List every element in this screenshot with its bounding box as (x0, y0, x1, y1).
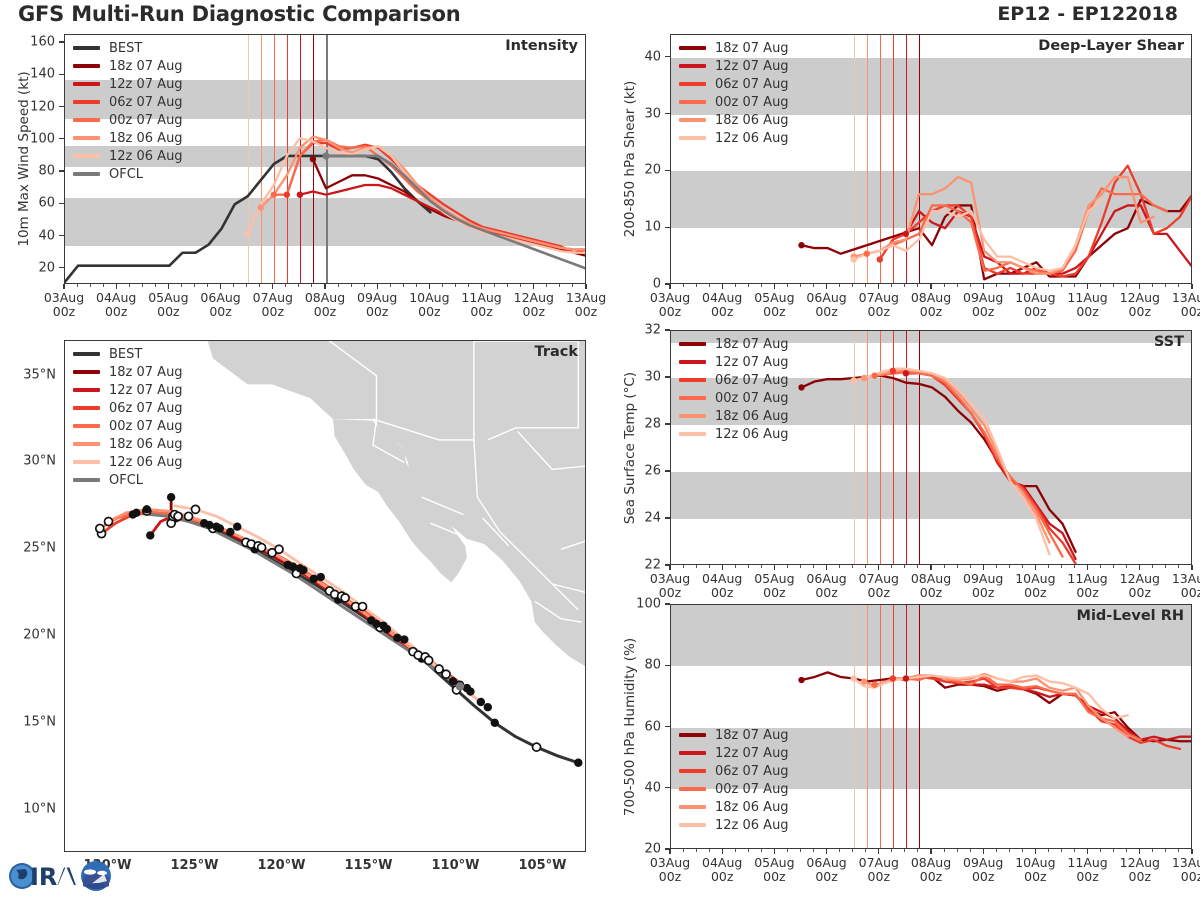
init-marker (284, 191, 290, 197)
x-tick-minor (1048, 284, 1049, 287)
legend-label: 00z 07 Aug (715, 782, 789, 797)
panel-title-rh: Mid-Level RH (1077, 608, 1184, 624)
legend-label: OFCL (109, 167, 143, 182)
x-tick-minor (1113, 565, 1114, 568)
legend-item: 06z 07 Aug (679, 762, 789, 780)
panel-title-intensity: Intensity (505, 38, 578, 54)
x-tick-minor (944, 284, 945, 287)
legend-label: 18z 07 Aug (109, 59, 183, 74)
init-marker (258, 204, 264, 210)
x-tick-mark (774, 284, 775, 289)
legend-color-swatch (679, 378, 706, 382)
position-marker-12z (442, 670, 450, 678)
x-tick-minor (787, 565, 788, 568)
x-tick-label: 13Aug00z (566, 291, 606, 319)
legend-color-swatch (679, 805, 706, 809)
x-tick-minor (761, 284, 762, 287)
legend-item: 12z 06 Aug (679, 425, 789, 443)
x-tick-minor (996, 565, 997, 568)
x-tick-minor (403, 284, 404, 287)
x-tick-mark (930, 284, 931, 289)
y-tick-mark (59, 170, 64, 171)
x-tick-mark (533, 284, 534, 289)
position-marker-00z (383, 625, 391, 633)
x-tick-minor (970, 849, 971, 852)
x-tick-minor (852, 565, 853, 568)
legend-color-swatch (679, 100, 706, 104)
x-tick-mark (826, 849, 827, 854)
x-tick-mark (1191, 565, 1192, 570)
legend-color-swatch (73, 388, 100, 392)
legend-color-swatch (73, 442, 100, 446)
legend-color-swatch (73, 478, 100, 482)
x-tick-minor (1126, 849, 1127, 852)
x-tick-minor (142, 284, 143, 287)
position-marker-00z (484, 703, 492, 711)
x-tick-minor (520, 284, 521, 287)
x-tick-minor (917, 849, 918, 852)
x-tick-label: 13Aug00z (1172, 291, 1200, 319)
legend-item: 18z 07 Aug (679, 335, 789, 353)
x-tick-minor (865, 565, 866, 568)
legend-item: 12z 06 Aug (73, 147, 183, 165)
x-tick-label: 04Aug00z (702, 856, 742, 884)
x-tick-minor (259, 284, 260, 287)
x-tick-minor (572, 284, 573, 287)
x-tick-minor (1178, 284, 1179, 287)
panel-shear: Deep-Layer Shear18z 07 Aug12z 07 Aug06z … (604, 28, 1200, 328)
x-tick-minor (996, 284, 997, 287)
x-tick-label: 05Aug00z (148, 291, 188, 319)
plot-area-intensity: IntensityBEST18z 07 Aug12z 07 Aug06z 07 … (64, 34, 586, 284)
y-tick-label: 120 (9, 99, 55, 114)
x-tick-minor (1022, 565, 1023, 568)
lon-tick-label: 115°W (345, 859, 393, 874)
x-tick-mark (1035, 284, 1036, 289)
legend-item: 18z 07 Aug (679, 726, 789, 744)
x-tick-mark (324, 284, 325, 289)
x-tick-mark (826, 565, 827, 570)
legend-item: 12z 06 Aug (679, 816, 789, 834)
panel-rh: Mid-Level RH18z 07 Aug12z 07 Aug06z 07 A… (604, 596, 1200, 896)
position-marker-12z (341, 594, 349, 602)
panel-intensity: IntensityBEST18z 07 Aug12z 07 Aug06z 07 … (0, 28, 596, 328)
x-tick-minor (285, 284, 286, 287)
legend-item: 12z 07 Aug (679, 744, 789, 762)
series-line (906, 675, 1192, 739)
page-title: GFS Multi-Run Diagnostic Comparison (18, 2, 460, 26)
x-tick-minor (748, 284, 749, 287)
y-tick-label: 60 (615, 719, 661, 734)
legend-sst: 18z 07 Aug12z 07 Aug06z 07 Aug00z 07 Aug… (679, 335, 789, 443)
legend-item: 18z 06 Aug (679, 798, 789, 816)
x-tick-minor (90, 284, 91, 287)
cira-logo: IRA (4, 852, 126, 898)
y-tick-mark (59, 41, 64, 42)
x-tick-minor (683, 284, 684, 287)
x-tick-label: 11Aug00z (461, 291, 501, 319)
x-tick-mark (1139, 284, 1140, 289)
x-tick-minor (1165, 849, 1166, 852)
x-tick-minor (748, 849, 749, 852)
legend-color-swatch (679, 733, 706, 737)
diagnostic-figure: GFS Multi-Run Diagnostic Comparison EP12… (0, 0, 1200, 900)
x-tick-mark (116, 284, 117, 289)
x-tick-mark (1139, 565, 1140, 570)
legend-color-swatch (679, 118, 706, 122)
x-tick-minor (546, 284, 547, 287)
position-marker-00z (143, 505, 151, 513)
x-tick-minor (865, 849, 866, 852)
x-tick-minor (1113, 284, 1114, 287)
x-tick-minor (865, 284, 866, 287)
x-tick-label: 03Aug00z (650, 291, 690, 319)
x-tick-mark (481, 284, 482, 289)
x-tick-label: 12Aug00z (514, 291, 554, 319)
x-tick-mark (722, 565, 723, 570)
x-tick-minor (364, 284, 365, 287)
x-tick-minor (944, 565, 945, 568)
legend-color-swatch (679, 64, 706, 68)
legend-label: 06z 07 Aug (715, 373, 789, 388)
init-marker (798, 242, 804, 248)
legend-color-swatch (73, 352, 100, 356)
x-tick-minor (1100, 565, 1101, 568)
x-tick-label: 09Aug00z (357, 291, 397, 319)
init-marker (903, 675, 909, 681)
x-tick-minor (1009, 565, 1010, 568)
position-marker-00z (226, 528, 234, 536)
x-tick-minor (1126, 565, 1127, 568)
legend-color-swatch (679, 823, 706, 827)
legend-item: BEST (73, 345, 183, 363)
x-tick-minor (1061, 565, 1062, 568)
legend-label: 06z 07 Aug (109, 401, 183, 416)
x-tick-mark (826, 284, 827, 289)
x-tick-minor (559, 284, 560, 287)
x-tick-minor (970, 284, 971, 287)
x-tick-minor (351, 284, 352, 287)
init-marker (798, 384, 804, 390)
x-tick-mark (669, 565, 670, 570)
y-tick-label: 24 (615, 511, 661, 526)
y-tick-mark (59, 74, 64, 75)
plot-area-rh: Mid-Level RH18z 07 Aug12z 07 Aug06z 07 A… (670, 604, 1192, 849)
x-tick-minor (1048, 565, 1049, 568)
init-marker (310, 156, 316, 162)
x-tick-label: 08Aug00z (305, 291, 345, 319)
legend-item: 12z 07 Aug (73, 75, 183, 93)
y-tick-label: 26 (615, 464, 661, 479)
legend-intensity: BEST18z 07 Aug12z 07 Aug06z 07 Aug00z 07… (73, 39, 183, 183)
x-tick-label: 05Aug00z (754, 856, 794, 884)
x-tick-minor (246, 284, 247, 287)
legend-color-swatch (73, 82, 100, 86)
x-tick-minor (904, 284, 905, 287)
x-tick-minor (207, 284, 208, 287)
x-tick-minor (957, 565, 958, 568)
series-line (802, 376, 1076, 552)
legend-item: 00z 07 Aug (679, 93, 789, 111)
position-marker-00z (216, 524, 224, 532)
legend-item: 06z 07 Aug (73, 93, 183, 111)
x-tick-minor (1100, 284, 1101, 287)
x-tick-minor (839, 849, 840, 852)
y-tick-mark (665, 517, 670, 518)
series-line (854, 369, 1050, 555)
x-tick-mark (878, 284, 879, 289)
legend-label: 18z 06 Aug (715, 409, 789, 424)
legend-track: BEST18z 07 Aug12z 07 Aug06z 07 Aug00z 07… (73, 345, 183, 489)
y-tick-mark (59, 235, 64, 236)
lat-tick-label: 25°N (0, 541, 56, 556)
legend-label: 18z 06 Aug (109, 131, 183, 146)
legend-item: 18z 06 Aug (679, 111, 789, 129)
legend-label: 12z 07 Aug (715, 746, 789, 761)
legend-color-swatch (73, 118, 100, 122)
x-tick-minor (904, 849, 905, 852)
legend-color-swatch (73, 46, 100, 50)
x-tick-mark (1191, 849, 1192, 854)
lon-tick-label: 105°W (519, 859, 567, 874)
legend-label: 12z 07 Aug (109, 383, 183, 398)
y-tick-mark (665, 470, 670, 471)
x-tick-label: 04Aug00z (702, 291, 742, 319)
x-tick-mark (1087, 565, 1088, 570)
legend-item: 12z 07 Aug (679, 57, 789, 75)
position-marker-00z (132, 509, 140, 517)
x-tick-minor (813, 284, 814, 287)
legend-color-swatch (679, 342, 706, 346)
position-marker-12z (174, 512, 182, 520)
legend-label: 06z 07 Aug (715, 77, 789, 92)
y-axis-label-shear: 200-850 hPa Shear (kt) (622, 81, 638, 238)
legend-color-swatch (679, 136, 706, 140)
legend-label: 06z 07 Aug (109, 95, 183, 110)
x-tick-minor (1152, 849, 1153, 852)
x-tick-label: 04Aug00z (96, 291, 136, 319)
x-tick-minor (1152, 284, 1153, 287)
y-tick-mark (665, 227, 670, 228)
x-tick-minor (233, 284, 234, 287)
position-marker-00z (146, 531, 154, 539)
y-tick-label: 32 (615, 323, 661, 338)
legend-item: 00z 07 Aug (679, 389, 789, 407)
legend-label: 12z 06 Aug (715, 427, 789, 442)
lat-tick-label: 20°N (0, 628, 56, 643)
legend-item: BEST (73, 39, 183, 57)
legend-color-swatch (73, 424, 100, 428)
x-tick-mark (774, 849, 775, 854)
x-tick-minor (1048, 849, 1049, 852)
x-tick-minor (494, 284, 495, 287)
x-tick-minor (917, 565, 918, 568)
position-marker-00z (400, 635, 408, 643)
position-marker-00z (317, 573, 325, 581)
lon-tick-label: 125°W (171, 859, 219, 874)
y-axis-label-sst: Sea Surface Temp (°C) (622, 371, 638, 523)
x-tick-label: 11Aug00z (1067, 291, 1107, 319)
x-tick-minor (800, 849, 801, 852)
legend-label: 00z 07 Aug (109, 419, 183, 434)
x-tick-minor (103, 284, 104, 287)
x-tick-minor (1074, 565, 1075, 568)
y-tick-label: 40 (615, 49, 661, 64)
legend-item: OFCL (73, 471, 183, 489)
y-tick-mark (665, 603, 670, 604)
init-marker (798, 677, 804, 683)
x-tick-mark (774, 565, 775, 570)
init-marker (877, 256, 883, 262)
x-tick-mark (669, 284, 670, 289)
x-tick-label: 10Aug00z (1015, 291, 1055, 319)
x-tick-minor (181, 284, 182, 287)
x-tick-mark (585, 284, 586, 289)
y-tick-label: 60 (9, 196, 55, 211)
x-tick-minor (1061, 284, 1062, 287)
x-tick-mark (930, 565, 931, 570)
position-marker-00z (233, 523, 241, 531)
x-tick-minor (761, 849, 762, 852)
x-tick-minor (735, 849, 736, 852)
plot-area-track: TrackBEST18z 07 Aug12z 07 Aug06z 07 Aug0… (64, 340, 586, 852)
y-tick-mark (665, 56, 670, 57)
series-line (893, 371, 1076, 564)
x-tick-minor (1074, 849, 1075, 852)
panel-title-shear: Deep-Layer Shear (1038, 38, 1184, 54)
y-tick-mark (59, 106, 64, 107)
legend-color-swatch (679, 751, 706, 755)
x-tick-minor (129, 284, 130, 287)
y-tick-label: 20 (9, 260, 55, 275)
x-tick-label: 06Aug00z (806, 291, 846, 319)
lon-tick-label: 110°W (432, 859, 480, 874)
x-tick-minor (298, 284, 299, 287)
legend-color-swatch (73, 460, 100, 464)
x-tick-mark (1035, 565, 1036, 570)
legend-item: 06z 07 Aug (679, 371, 789, 389)
x-tick-minor (468, 284, 469, 287)
y-tick-mark (665, 726, 670, 727)
plot-area-sst: SST18z 07 Aug12z 07 Aug06z 07 Aug00z 07 … (670, 330, 1192, 565)
x-tick-mark (722, 284, 723, 289)
x-tick-minor (839, 565, 840, 568)
lat-tick-label: 15°N (0, 714, 56, 729)
legend-color-swatch (73, 100, 100, 104)
y-tick-label: 80 (615, 658, 661, 673)
y-tick-mark (59, 203, 64, 204)
legend-item: 12z 07 Aug (679, 353, 789, 371)
lat-tick-label: 10°N (0, 801, 56, 816)
legend-item: 06z 07 Aug (679, 75, 789, 93)
x-tick-mark (63, 284, 64, 289)
init-marker (851, 377, 857, 383)
x-tick-minor (1022, 849, 1023, 852)
init-marker (245, 230, 251, 236)
x-tick-mark (1139, 849, 1140, 854)
x-tick-minor (748, 565, 749, 568)
y-tick-label: 160 (9, 35, 55, 50)
y-tick-label: 100 (9, 131, 55, 146)
legend-item: 00z 07 Aug (73, 417, 183, 435)
x-tick-minor (735, 565, 736, 568)
legend-label: 18z 07 Aug (715, 337, 789, 352)
x-tick-minor (800, 565, 801, 568)
panel-title-sst: SST (1154, 334, 1184, 350)
legend-label: 18z 06 Aug (715, 113, 789, 128)
x-tick-minor (194, 284, 195, 287)
x-tick-minor (338, 284, 339, 287)
legend-label: 12z 06 Aug (109, 149, 183, 164)
y-tick-label: 100 (615, 597, 661, 612)
x-tick-label: 06Aug00z (806, 856, 846, 884)
x-tick-minor (683, 565, 684, 568)
init-marker (903, 231, 909, 237)
x-tick-label: 10Aug00z (1015, 856, 1055, 884)
lat-tick-label: 30°N (0, 454, 56, 469)
x-tick-label: 09Aug00z (963, 291, 1003, 319)
x-tick-minor (696, 284, 697, 287)
x-tick-label: 05Aug00z (754, 291, 794, 319)
position-marker-00z (466, 687, 474, 695)
x-tick-label: 07Aug00z (859, 291, 899, 319)
y-tick-label: 40 (615, 780, 661, 795)
x-tick-minor (709, 284, 710, 287)
position-marker-12z (359, 603, 367, 611)
legend-label: 18z 06 Aug (715, 800, 789, 815)
legend-label: 18z 06 Aug (109, 437, 183, 452)
legend-color-swatch (679, 432, 706, 436)
x-tick-mark (983, 849, 984, 854)
x-tick-minor (800, 284, 801, 287)
x-tick-label: 10Aug00z (409, 291, 449, 319)
x-tick-minor (696, 849, 697, 852)
x-tick-minor (917, 284, 918, 287)
position-marker-12z (275, 545, 283, 553)
legend-item: 00z 07 Aug (73, 111, 183, 129)
legend-item: 12z 07 Aug (73, 381, 183, 399)
x-tick-mark (983, 565, 984, 570)
y-tick-label: 30 (615, 370, 661, 385)
legend-item: 06z 07 Aug (73, 399, 183, 417)
position-marker-12z (533, 743, 541, 751)
x-tick-minor (1178, 849, 1179, 852)
y-tick-mark (665, 329, 670, 330)
x-tick-label: 03Aug00z (650, 856, 690, 884)
position-marker-00z (491, 719, 499, 727)
position-marker-12z (258, 544, 266, 552)
x-tick-minor (155, 284, 156, 287)
x-tick-minor (970, 565, 971, 568)
x-tick-label: 11Aug00z (1067, 856, 1107, 884)
init-marker (871, 372, 877, 378)
x-tick-mark (220, 284, 221, 289)
position-marker-12z (185, 512, 193, 520)
legend-label: 12z 07 Aug (715, 59, 789, 74)
x-tick-minor (1061, 849, 1062, 852)
y-tick-mark (665, 170, 670, 171)
x-tick-label: 08Aug00z (911, 291, 951, 319)
init-marker (890, 675, 896, 681)
legend-label: 18z 07 Aug (715, 41, 789, 56)
x-tick-minor (761, 565, 762, 568)
legend-label: OFCL (109, 473, 143, 488)
position-marker-00z (167, 493, 175, 501)
x-tick-minor (311, 284, 312, 287)
y-tick-mark (59, 267, 64, 268)
x-tick-mark (669, 849, 670, 854)
x-tick-minor (507, 284, 508, 287)
